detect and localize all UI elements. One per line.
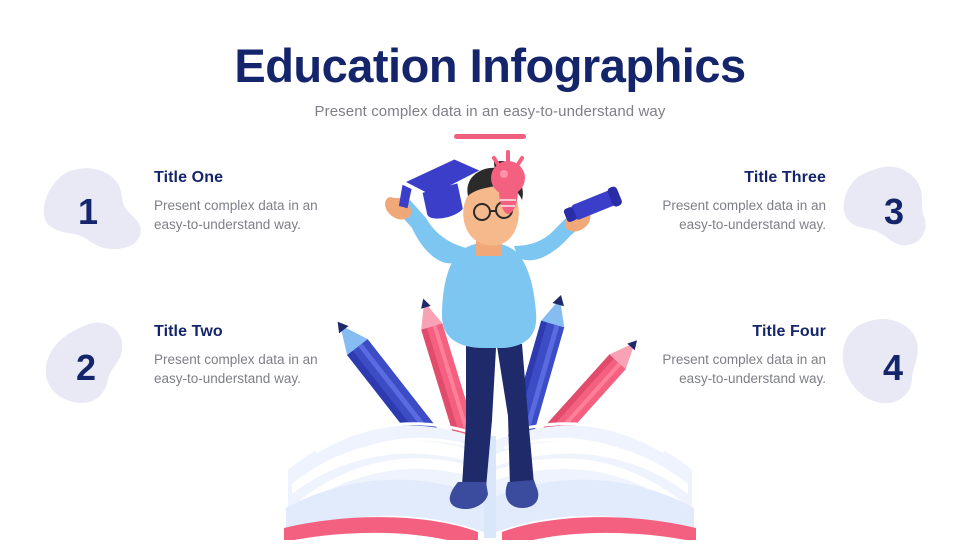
diploma-scroll-icon <box>562 185 623 225</box>
central-illustration <box>270 140 710 540</box>
number-blob-1: 1 <box>40 163 144 257</box>
number-blob-3: 3 <box>836 163 940 257</box>
number-blob-4: 4 <box>836 317 940 411</box>
infographic-slide: Education Infographics Present complex d… <box>0 0 980 551</box>
number-blob-2: 2 <box>40 317 144 411</box>
page-subtitle: Present complex data in an easy-to-under… <box>0 103 980 120</box>
accent-divider <box>454 134 526 139</box>
item-number-1: 1 <box>78 194 98 230</box>
item-number-2: 2 <box>76 350 96 386</box>
header: Education Infographics Present complex d… <box>0 0 980 139</box>
page-title: Education Infographics <box>0 42 980 89</box>
item-number-3: 3 <box>884 194 904 230</box>
item-number-4: 4 <box>883 350 903 386</box>
